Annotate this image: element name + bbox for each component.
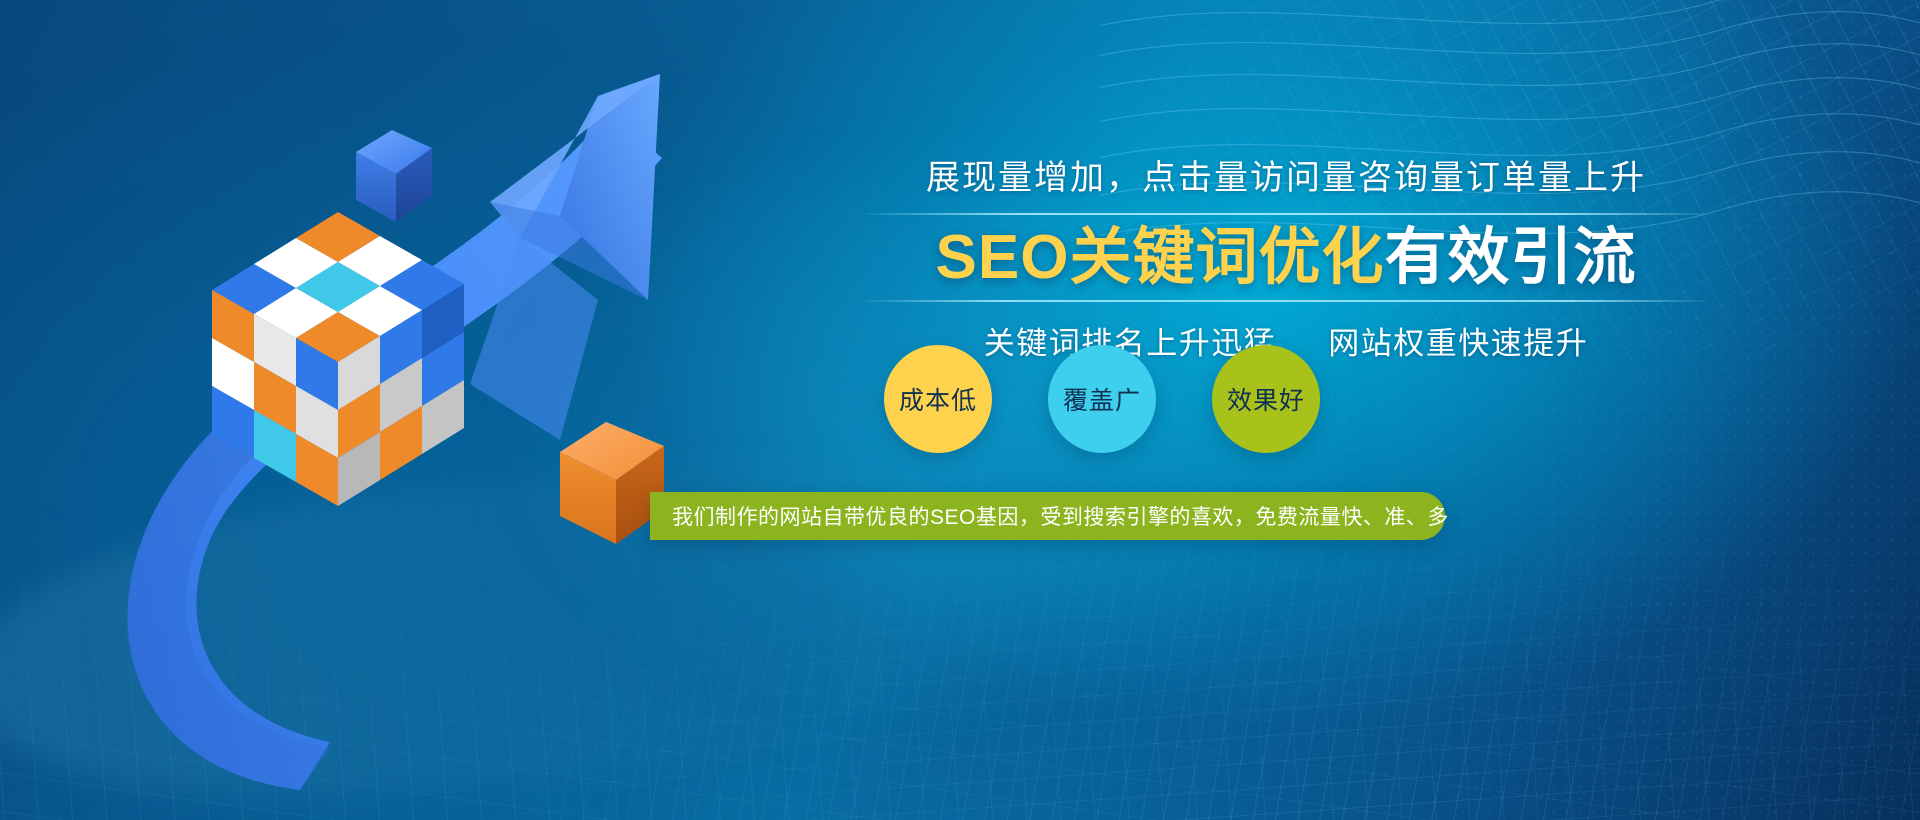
headline-block: 展现量增加，点击量访问量咨询量订单量上升 SEO关键词优化有效引流 关键词排名上…: [866, 150, 1706, 363]
page-title: SEO关键词优化有效引流: [866, 225, 1706, 292]
floating-cube-top-icon: [356, 130, 432, 222]
footer-strip: 我们制作的网站自带优良的SEO基因，受到搜索引擎的喜欢，免费流量快、准、多: [650, 492, 1445, 540]
bubble-coverage[interactable]: 覆盖广: [1048, 345, 1156, 453]
hero-illustration: [0, 0, 760, 820]
subline-right: 网站权重快速提升: [1328, 326, 1588, 361]
divider-top: [866, 213, 1706, 215]
divider-bottom: [866, 300, 1706, 302]
headline-rest: 有效引流: [1384, 223, 1636, 292]
bubble-cost-label: 成本低: [899, 381, 977, 417]
bubble-cost[interactable]: 成本低: [884, 345, 992, 453]
footer-strip-text: 我们制作的网站自带优良的SEO基因，受到搜索引擎的喜欢，免费流量快、准、多: [672, 501, 1449, 531]
bubble-effect[interactable]: 效果好: [1212, 345, 1320, 453]
feature-bubbles: 成本低 覆盖广 效果好: [884, 345, 1320, 453]
seo-promo-banner: 展现量增加，点击量访问量咨询量订单量上升 SEO关键词优化有效引流 关键词排名上…: [0, 0, 1920, 820]
bubble-coverage-label: 覆盖广: [1063, 381, 1141, 417]
tagline-text: 展现量增加，点击量访问量咨询量订单量上升: [866, 150, 1706, 199]
bubble-effect-label: 效果好: [1227, 381, 1305, 417]
floating-cube-bottom-icon: [560, 422, 664, 544]
headline-highlight: SEO关键词优化: [936, 223, 1385, 292]
